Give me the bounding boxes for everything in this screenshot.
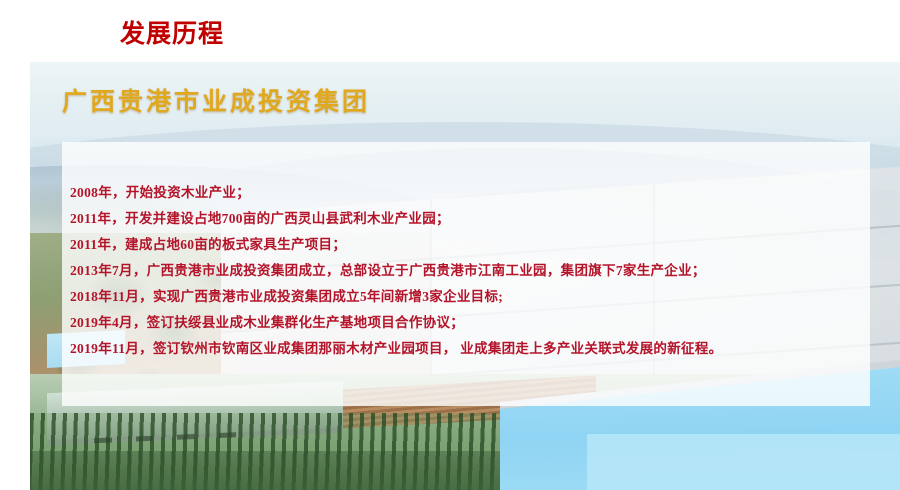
timeline-item: 2013年7月，广西贵港市业成投资集团成立，总部设立于广西贵港市江南工业园，集团… (70, 258, 885, 284)
page-title: 发展历程 (120, 14, 224, 50)
timeline-list: 2008年，开始投资木业产业； 2011年，开发并建设占地700亩的广西灵山县武… (70, 180, 885, 362)
blue-roof-secondary (587, 434, 900, 490)
timeline-item: 2011年，开发并建设占地700亩的广西灵山县武利木业产业园； (70, 206, 885, 232)
slide-header: 发展历程 (0, 0, 900, 62)
timeline-item: 2019年4月，签订扶绥县业成木业集群化生产基地项目合作协议； (70, 310, 885, 336)
timeline-item: 2011年，建成占地60亩的板式家具生产项目； (70, 232, 885, 258)
timeline-item: 2008年，开始投资木业产业； (70, 180, 885, 206)
company-name-banner: 广西贵港市业成投资集团 (62, 82, 370, 118)
slide-root: 广西贵港市业成投资集团 2008年，开始投资木业产业； 2011年，开发并建设占… (0, 0, 900, 490)
timeline-item: 2019年11月，签订钦州市钦南区业成集团那丽木材产业园项目， 业成集团走上多产… (70, 336, 885, 362)
timeline-item: 2018年11月，实现广西贵港市业成投资集团成立5年间新增3家企业目标; (70, 284, 885, 310)
left-page-margin (0, 0, 30, 490)
